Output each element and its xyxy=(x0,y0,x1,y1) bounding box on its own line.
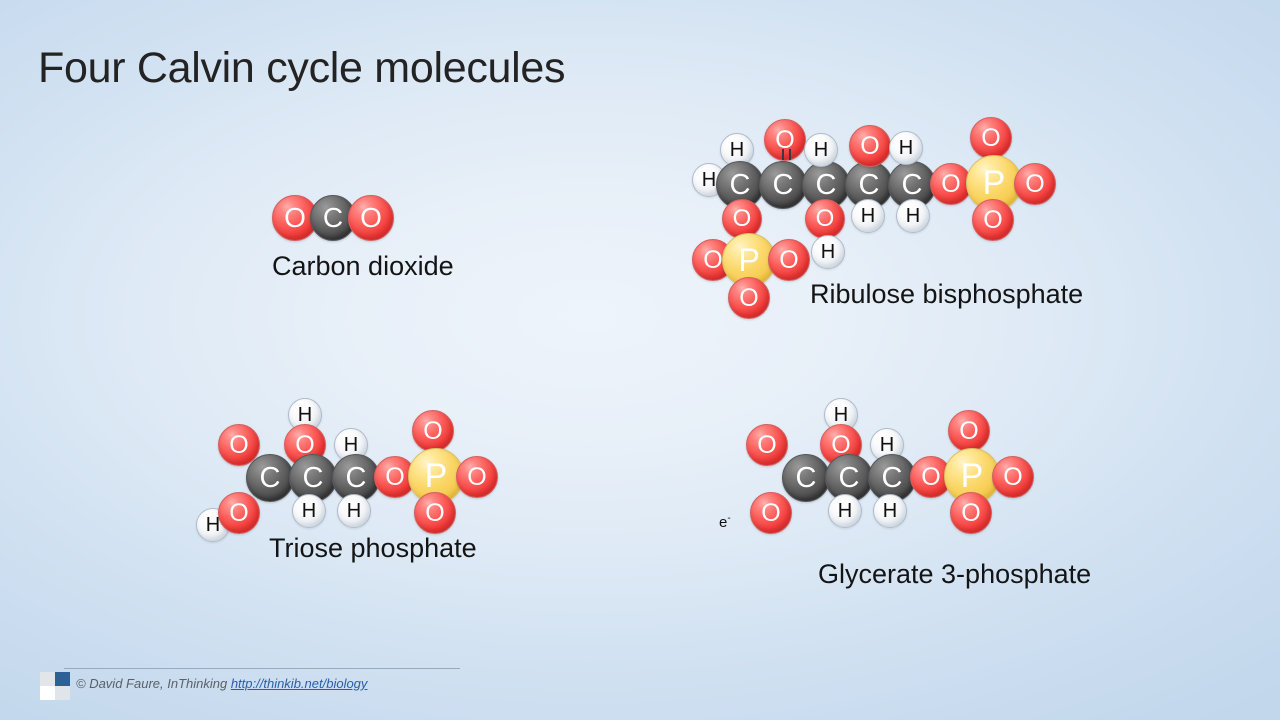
footer-divider xyxy=(64,668,460,669)
logo-square-bottom-right xyxy=(55,686,70,700)
atom-o: O xyxy=(412,410,454,452)
page-title: Four Calvin cycle molecules xyxy=(38,44,565,93)
atom-o: O xyxy=(972,199,1014,241)
atom-o: O xyxy=(746,424,788,466)
molecule-glycerate-3-phosphate: OOCHOCHHCHOOPOO xyxy=(734,398,1064,548)
atom-h: H xyxy=(804,133,838,167)
atom-o: O xyxy=(970,117,1012,159)
atom-o: O xyxy=(849,125,891,167)
molecule-label-triose-phosphate: Triose phosphate xyxy=(269,533,477,564)
logo-square-bottom-left xyxy=(40,686,55,700)
atom-h: H xyxy=(292,494,326,528)
footer-website-link[interactable]: http://thinkib.net/biology xyxy=(231,676,368,691)
atom-h: H xyxy=(889,131,923,165)
footer-credit: © David Faure, InThinking http://thinkib… xyxy=(76,676,367,691)
atom-o: O xyxy=(768,239,810,281)
electron-charge-superscript: - xyxy=(727,513,730,524)
atom-c: C xyxy=(782,454,830,502)
molecule-label-glycerate-3-phosphate: Glycerate 3-phosphate xyxy=(818,559,1091,590)
molecule-label-carbon-dioxide: Carbon dioxide xyxy=(272,251,454,282)
atom-h: H xyxy=(896,199,930,233)
slide-canvas: Four Calvin cycle molecules OCO Carbon d… xyxy=(0,0,1280,720)
atom-o: O xyxy=(750,492,792,534)
footer-credit-text: © David Faure, InThinking xyxy=(76,676,231,691)
atom-o: O xyxy=(728,277,770,319)
atom-c: C xyxy=(759,161,807,209)
atom-h: H xyxy=(811,235,845,269)
atom-h: H xyxy=(337,494,371,528)
atom-o: O xyxy=(950,492,992,534)
atom-o: O xyxy=(805,199,845,239)
logo-square-top-right xyxy=(55,672,70,686)
atom-o: O xyxy=(948,410,990,452)
electron-label: e- xyxy=(719,513,731,531)
molecule-label-ribulose-bisphosphate: Ribulose bisphosphate xyxy=(810,279,1083,310)
atom-o: O xyxy=(218,492,260,534)
atom-o: O xyxy=(1014,163,1056,205)
molecule-triose-phosphate: HOOCHOCHHCHOOPOO xyxy=(196,398,526,548)
atom-h: H xyxy=(828,494,862,528)
atom-h: H xyxy=(873,494,907,528)
logo-square-top-left xyxy=(40,672,55,686)
double-bond xyxy=(782,149,791,160)
atom-h: H xyxy=(851,199,885,233)
atom-o: O xyxy=(456,456,498,498)
atom-c: C xyxy=(246,454,294,502)
molecule-carbon-dioxide: OCO xyxy=(272,195,412,255)
footer: © David Faure, InThinking http://thinkib… xyxy=(40,668,460,710)
atom-o: O xyxy=(414,492,456,534)
inthinking-logo xyxy=(40,672,70,700)
atom-o: O xyxy=(348,195,394,241)
atom-o: O xyxy=(992,456,1034,498)
